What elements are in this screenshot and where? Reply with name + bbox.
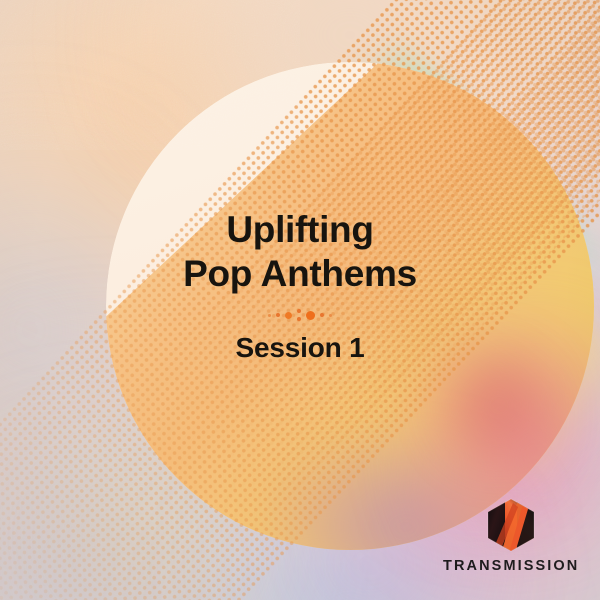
ornament-dot-1 bbox=[268, 314, 271, 317]
ornament-dot-pair bbox=[297, 309, 301, 321]
ornament-dot-4b bbox=[297, 317, 301, 321]
page-title: Uplifting Pop Anthems bbox=[0, 208, 600, 296]
dot-divider-ornament bbox=[0, 306, 600, 324]
ornament-dot-6 bbox=[320, 313, 324, 317]
ornament-dot-2 bbox=[276, 313, 280, 317]
cover-text-block: Uplifting Pop Anthems Session 1 bbox=[0, 208, 600, 364]
album-cover: Uplifting Pop Anthems Session 1 bbox=[0, 0, 600, 600]
hexagon-logo-icon bbox=[485, 497, 537, 553]
title-line-1: Uplifting bbox=[226, 209, 373, 250]
ornament-dot-3 bbox=[285, 312, 292, 319]
title-line-2: Pop Anthems bbox=[183, 253, 417, 294]
brand-wordmark: TRANSMISSION bbox=[443, 558, 579, 574]
ornament-dot-4a bbox=[297, 309, 301, 313]
session-subtitle: Session 1 bbox=[0, 332, 600, 364]
brand-logo: TRANSMISSION bbox=[443, 497, 579, 574]
ornament-dot-7 bbox=[329, 314, 332, 317]
ornament-dot-5 bbox=[306, 311, 315, 320]
